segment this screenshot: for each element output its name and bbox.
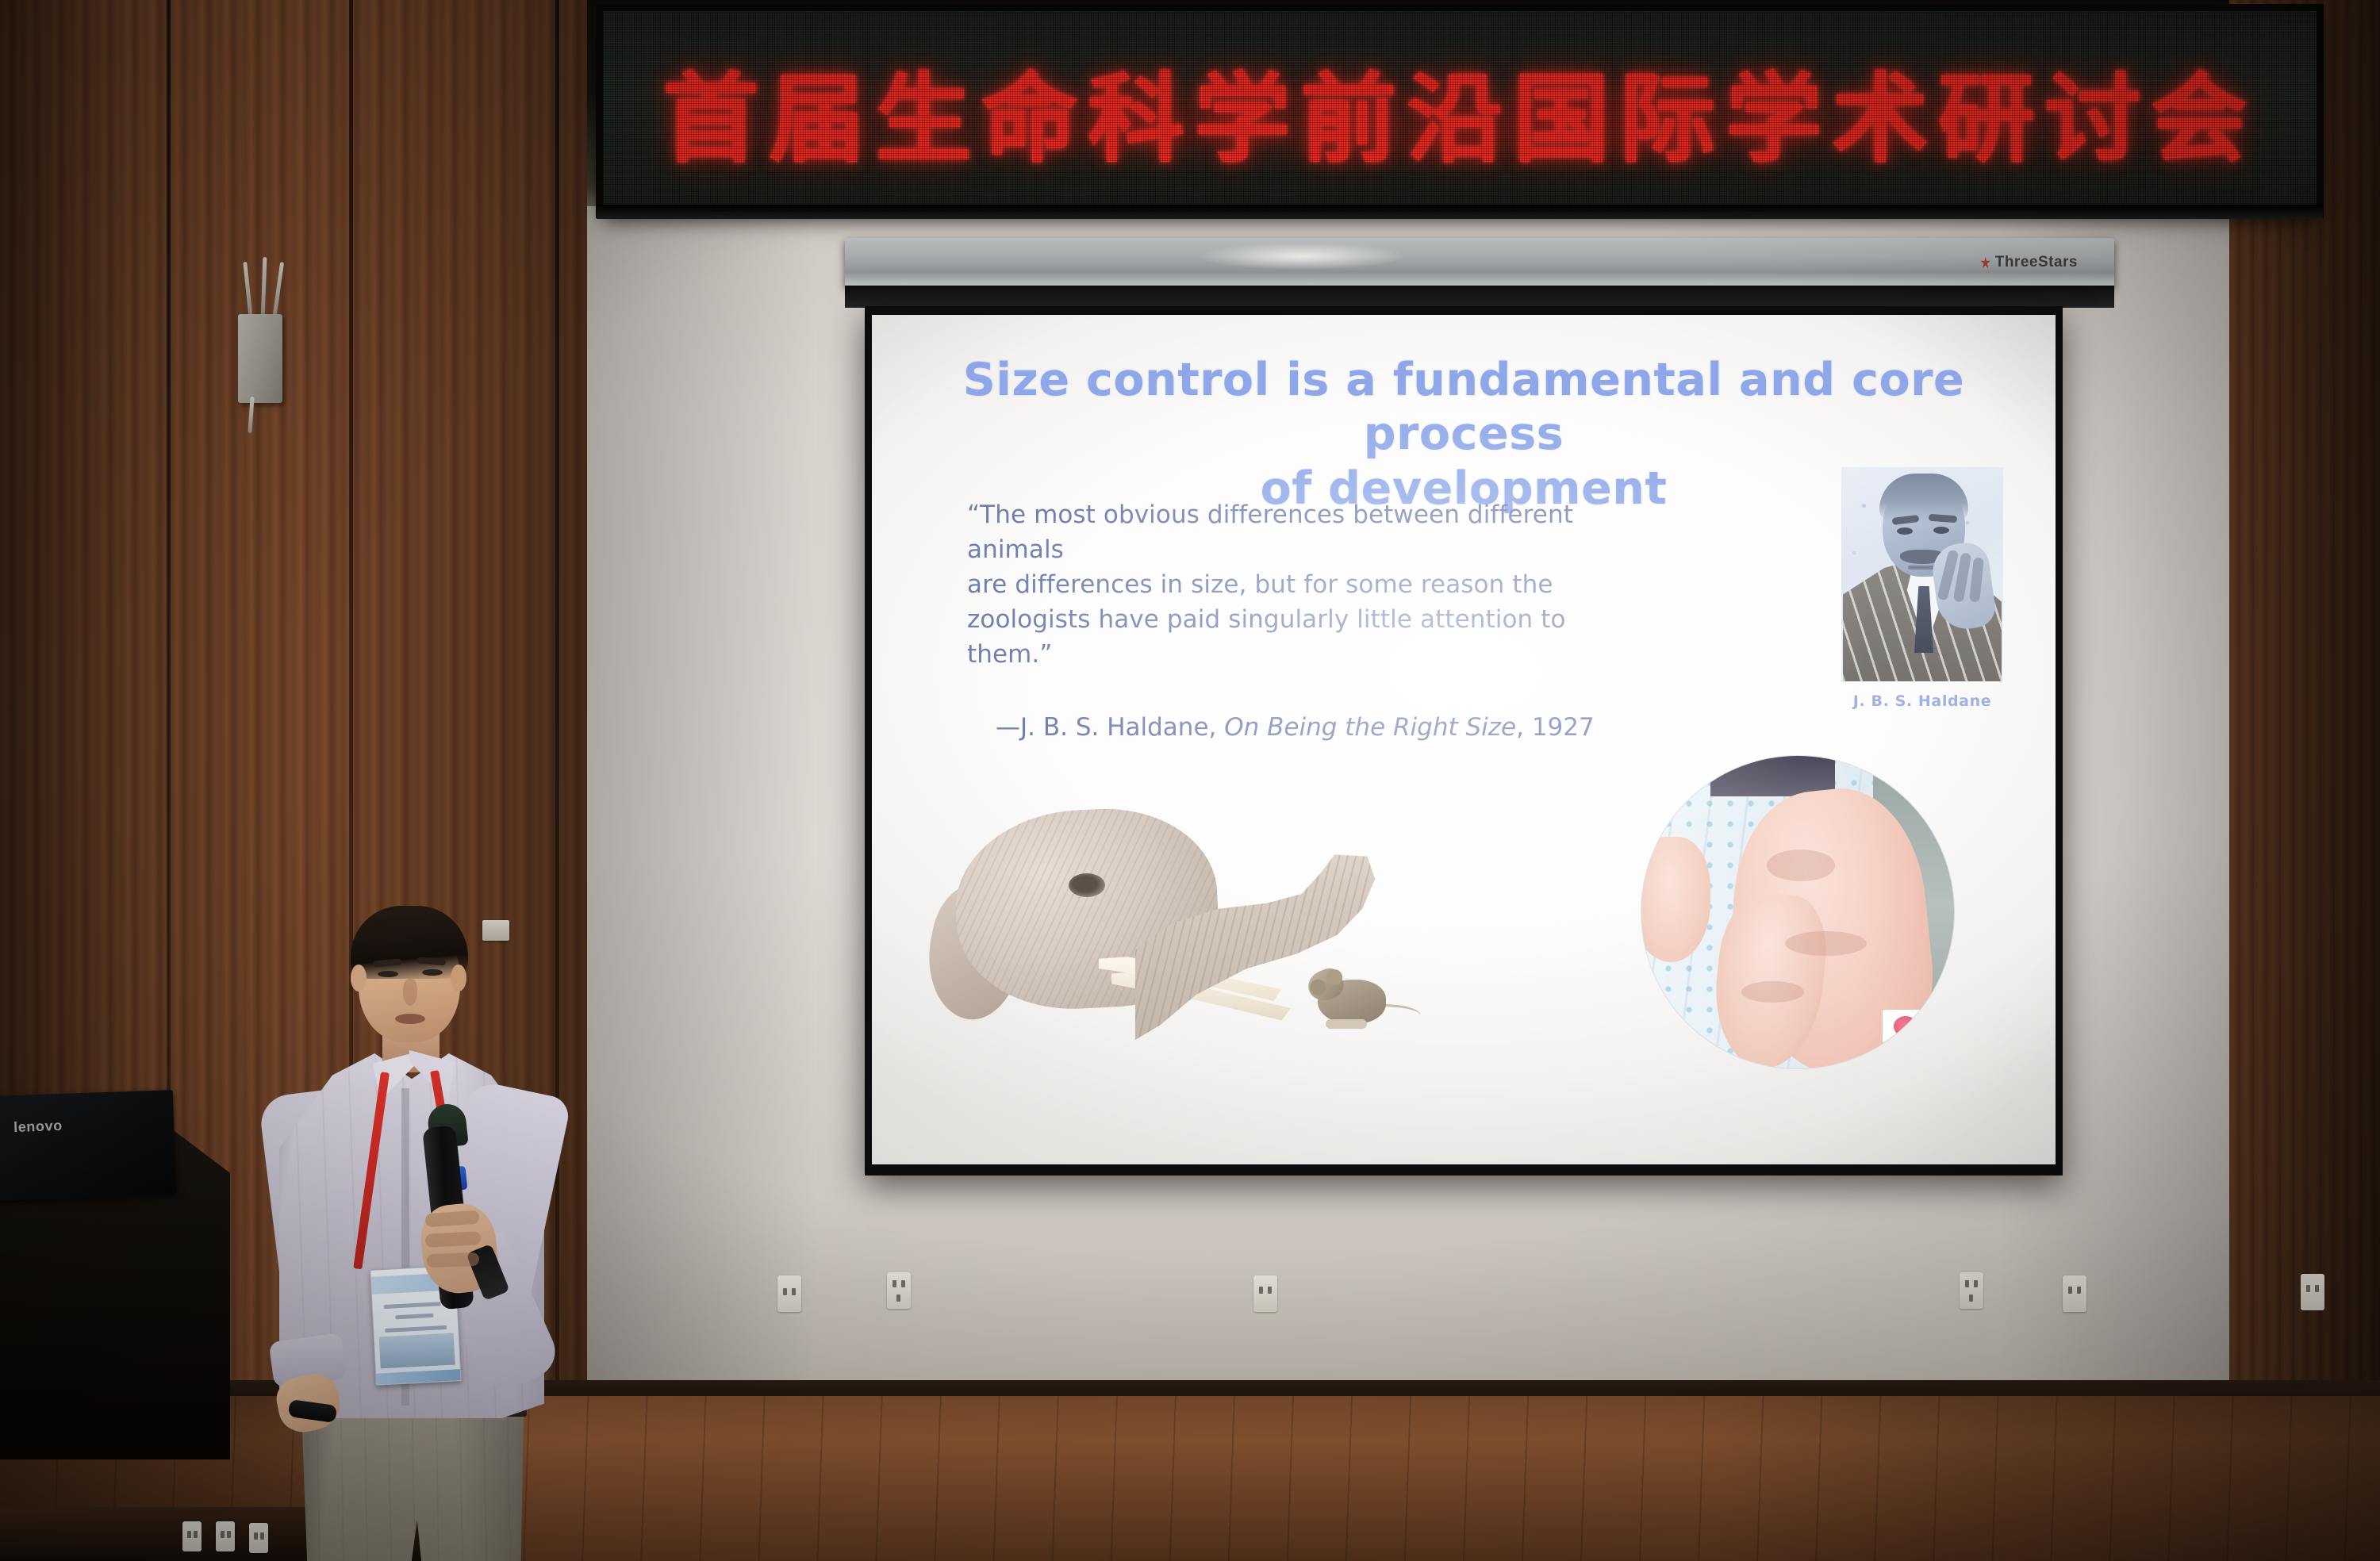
skin-fold (1741, 981, 1804, 1003)
elephant-eye (1069, 873, 1105, 897)
badge-photo (379, 1333, 455, 1369)
attribution-work-title: On Being the Right Size (1224, 713, 1516, 742)
quote-line-1: “The most obvious differences between di… (967, 497, 1657, 567)
speaker-eye-left (378, 971, 398, 977)
portrait-mouth (1908, 566, 1935, 570)
portrait-caption: J. B. S. Haldane (1841, 692, 2003, 710)
elephant-and-mouse-image (980, 800, 1392, 1038)
wireless-access-point (238, 314, 282, 403)
screen-brand-label: ThreeStars (1981, 254, 2078, 271)
quote-text: “The most obvious differences between di… (967, 497, 1657, 672)
mouse-ear (1307, 977, 1328, 998)
wall-socket (1960, 1272, 1983, 1309)
laptop-brand-label: lenovo (13, 1118, 63, 1136)
laptop: lenovo (0, 1090, 176, 1201)
speaker-eye-right (422, 969, 443, 976)
floor-socket (216, 1521, 235, 1551)
portrait-eye-left (1897, 527, 1913, 535)
projection-screen-surface: Size control is a fundamental and core p… (872, 315, 2056, 1164)
wall-socket (2063, 1275, 2086, 1312)
led-banner-text: 首届生命科学前沿国际学术研讨会 (603, 41, 2317, 182)
speaker-finger (427, 1252, 480, 1268)
housing-highlight (1200, 243, 1403, 270)
wall-socket (777, 1275, 801, 1312)
speaker-hair (351, 906, 468, 979)
led-banner: 首届生命科学前沿国际学术研讨会 (603, 11, 2317, 211)
attribution-author: —J. B. S. Haldane, (996, 713, 1224, 742)
star-icon (1981, 257, 1990, 268)
badge-text-line (395, 1314, 433, 1320)
speaker-trousers-shading (297, 1404, 528, 1561)
speaker-nose (403, 979, 417, 1006)
haldane-portrait-block: J. B. S. Haldane (1841, 467, 2003, 710)
screen-top-shadow (845, 286, 2114, 308)
mouse-foot (1326, 1019, 1367, 1029)
skin-fold (1785, 931, 1866, 957)
limb-overgrowth-photo (1641, 756, 1954, 1068)
badge-mark-icon (1894, 1016, 1917, 1037)
medical-badge (1883, 1010, 1929, 1043)
badge-text-line (385, 1325, 447, 1333)
speaker-ear-right (451, 965, 466, 991)
led-banner-frame-bottom (597, 205, 2323, 219)
right-wood-wall-panel (2213, 0, 2380, 1561)
quote-line-2: are differences in size, but for some re… (967, 567, 1657, 602)
wall-socket (887, 1272, 911, 1309)
badge-text-line (384, 1302, 441, 1309)
quote-attribution: —J. B. S. Haldane, On Being the Right Si… (996, 713, 1657, 742)
screen-brand-text: ThreeStars (1995, 254, 2078, 271)
projection-screen-frame: Size control is a fundamental and core p… (865, 306, 2063, 1176)
speaker-mouth (395, 1014, 425, 1024)
quote-line-3: zoologists have paid singularly little a… (967, 602, 1657, 672)
skin-fold (1767, 850, 1836, 880)
speaker-ear-left (351, 965, 367, 991)
wall-socket (1253, 1275, 1277, 1312)
mouse-ear (1324, 967, 1345, 988)
presentation-slide: Size control is a fundamental and core p… (872, 315, 2056, 1164)
wall-socket (2301, 1274, 2324, 1310)
speaker-presenter (262, 888, 563, 1561)
portrait-eye-right (1933, 527, 1949, 534)
projection-screen-housing: ThreeStars (845, 238, 2114, 287)
haldane-portrait-image (1841, 467, 2003, 681)
slide-title-line-1: Size control is a fundamental and core p… (918, 353, 2010, 462)
mouse (1305, 956, 1397, 1032)
quote-block: “The most obvious differences between di… (967, 497, 1657, 742)
attribution-year: , 1927 (1516, 713, 1595, 742)
floor-socket (182, 1521, 202, 1551)
conference-photo-scene: 首届生命科学前沿国际学术研讨会 ThreeStars Size control … (0, 0, 2380, 1561)
